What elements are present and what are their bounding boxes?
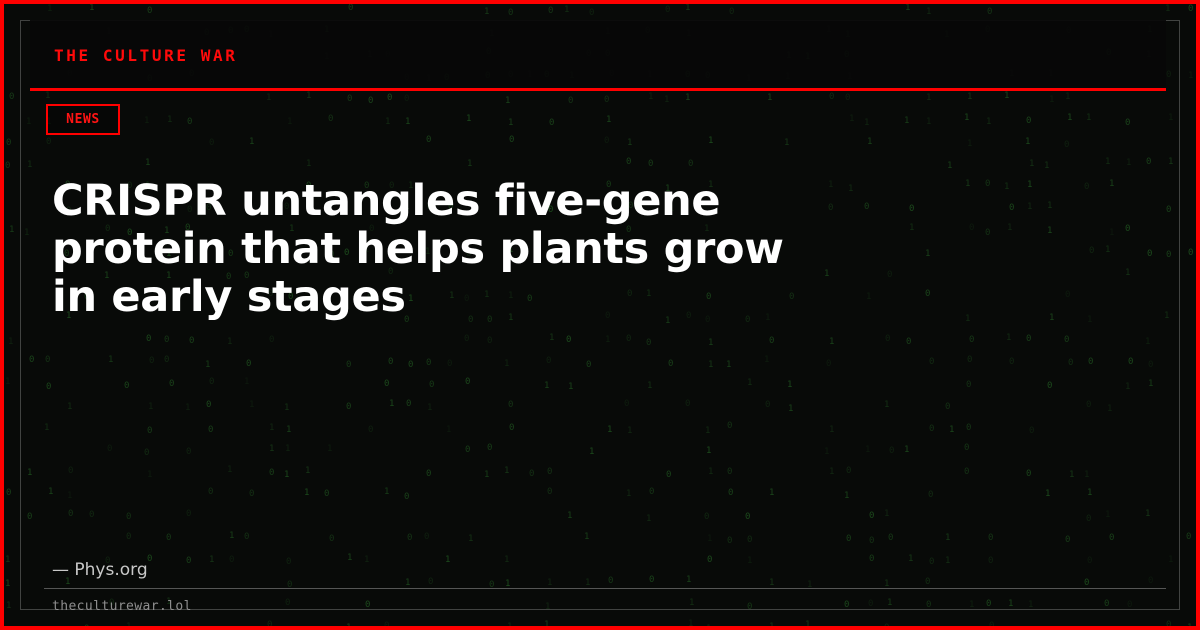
category-badge-label: NEWS: [66, 112, 100, 127]
header-divider: [30, 88, 1166, 91]
headline-text: CRISPR untangles five-gene protein that …: [52, 177, 812, 321]
card-content: THE CULTURE WAR NEWS CRISPR untangles fi…: [4, 4, 1196, 626]
site-url-label: theculturewar.lol: [52, 599, 192, 614]
category-badge-news: NEWS: [46, 104, 120, 135]
brand-title: THE CULTURE WAR: [54, 46, 238, 65]
source-attribution: — Phys.org: [52, 560, 148, 580]
header-panel: THE CULTURE WAR: [30, 20, 1166, 90]
social-share-card: 1100100100101101010001111011110011101100…: [0, 0, 1200, 630]
footer-divider: [44, 588, 1166, 589]
